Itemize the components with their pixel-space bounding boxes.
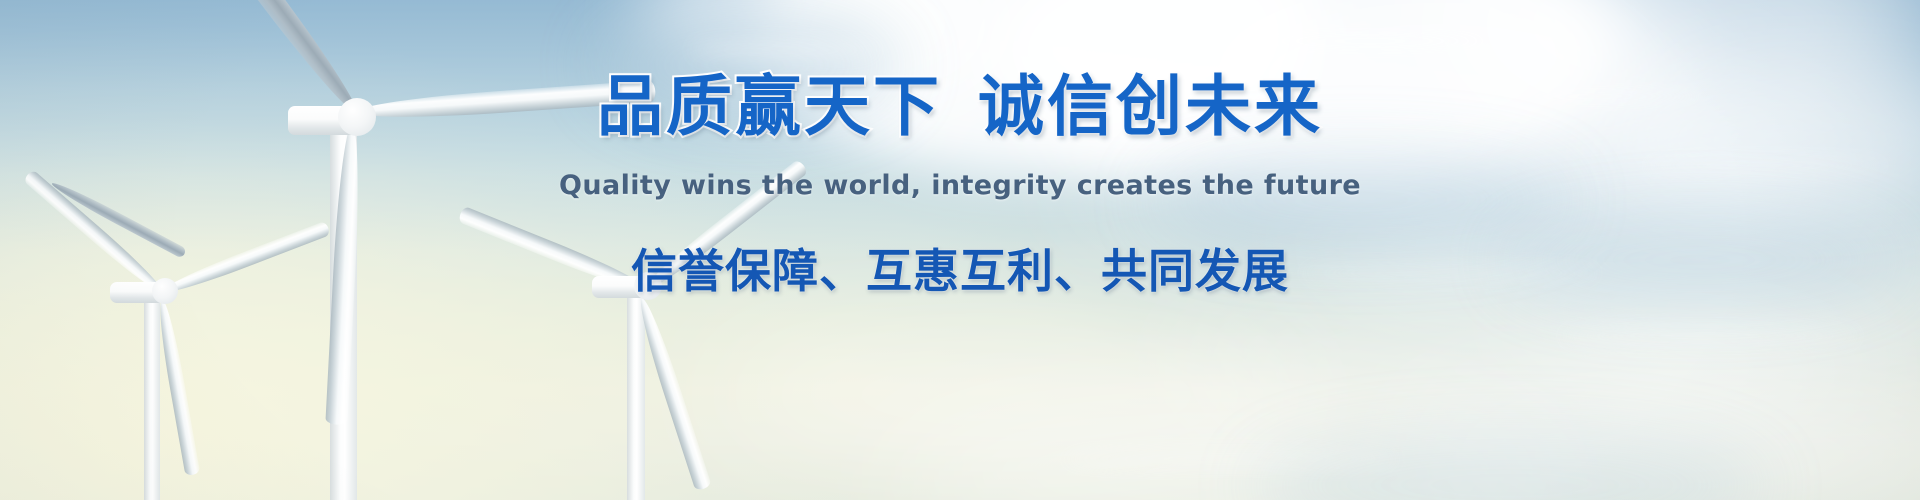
turbine-blade xyxy=(167,0,365,119)
turbine-blade xyxy=(155,298,201,476)
turbine-blade xyxy=(641,159,809,296)
turbine-hub xyxy=(634,272,662,300)
wind-turbine-layer xyxy=(0,0,1920,500)
promotional-banner: 品质赢天下诚信创未来 Quality wins the world, integ… xyxy=(0,0,1920,500)
turbine-hub xyxy=(338,98,376,136)
turbine-tower xyxy=(144,292,160,500)
turbine-blade xyxy=(355,80,656,123)
turbine-blade xyxy=(159,221,331,299)
turbine-hub xyxy=(152,278,178,304)
turbine-tower xyxy=(627,292,645,500)
turbine-blade xyxy=(634,296,712,491)
